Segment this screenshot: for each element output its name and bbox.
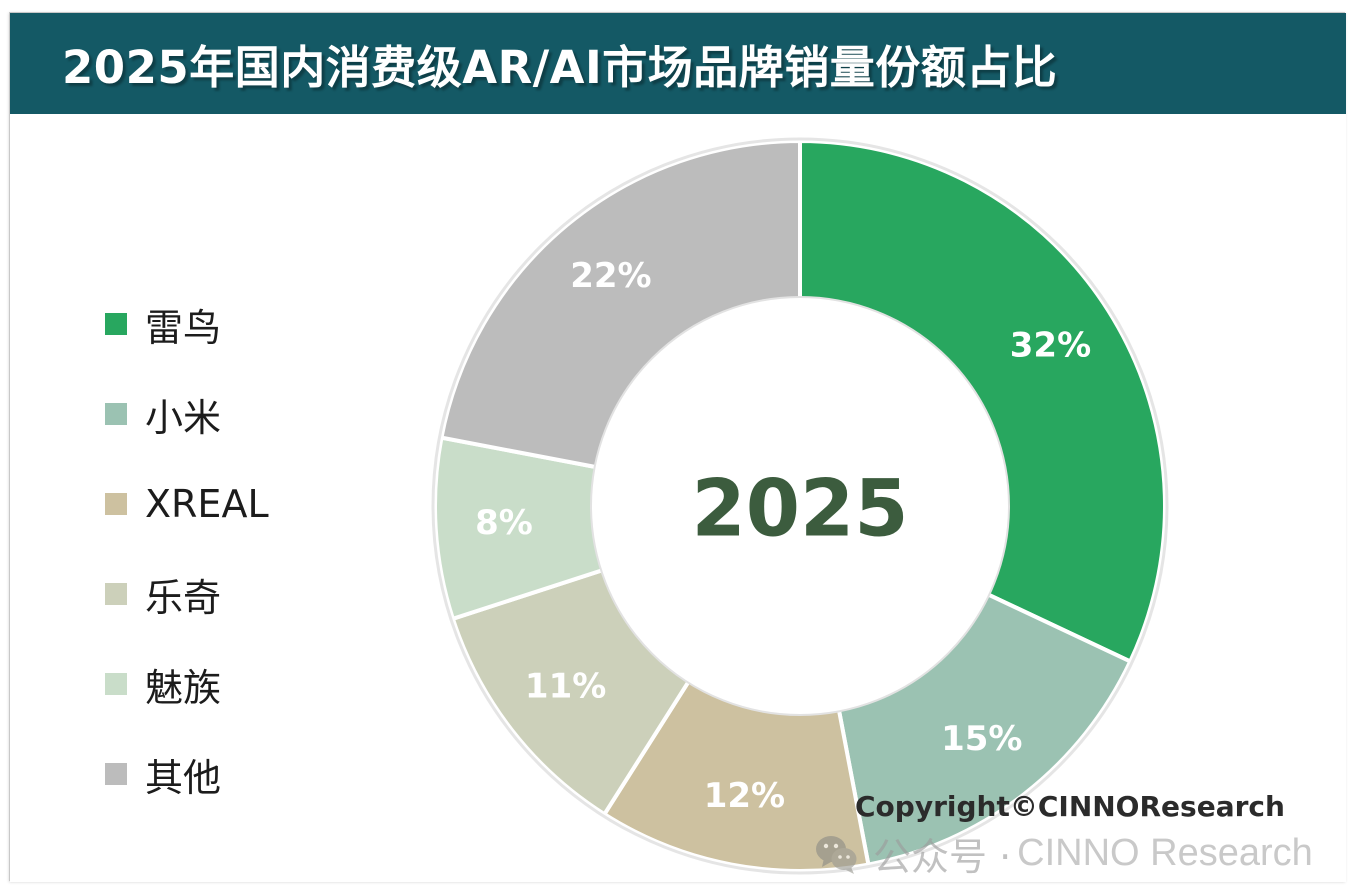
legend-item-label: 魅族 — [145, 657, 221, 712]
legend-item[interactable]: 雷鸟 — [105, 279, 405, 369]
wechat-icon — [815, 834, 859, 874]
legend-swatch-icon — [105, 403, 127, 425]
donut-chart: 2025 32%15%12%11%8%22% — [430, 136, 1170, 876]
legend-swatch-icon — [105, 763, 127, 785]
page-title: 2025年国内消费级AR/AI市场品牌销量份额占比 — [62, 31, 1057, 96]
copyright-text: Copyright©CINNOResearch — [855, 790, 1285, 823]
donut-slice-label: 11% — [525, 666, 606, 706]
donut-slice-label: 12% — [704, 776, 785, 816]
chart-legend: 雷鸟小米XREAL乐奇魅族其他 — [105, 279, 405, 819]
legend-item-label: 其他 — [145, 747, 221, 802]
donut-slice-label: 32% — [1010, 326, 1091, 366]
donut-center-label: 2025 — [691, 464, 908, 554]
legend-swatch-icon — [105, 313, 127, 335]
legend-item-label: 乐奇 — [145, 567, 221, 622]
chart-plot-area: 雷鸟小米XREAL乐奇魅族其他 2025 32%15%12%11%8%22% C… — [10, 114, 1346, 882]
legend-item[interactable]: 魅族 — [105, 639, 405, 729]
watermark-label-zh: 公众号 · — [873, 826, 1011, 881]
donut-slice-label: 22% — [570, 256, 651, 296]
legend-swatch-icon — [105, 673, 127, 695]
legend-item-label: XREAL — [145, 482, 269, 526]
donut-slice-label: 8% — [475, 503, 533, 543]
donut-slice-label: 15% — [941, 719, 1022, 759]
watermark: 公众号 · CINNO Research — [815, 826, 1313, 881]
legend-item-label: 小米 — [145, 387, 221, 442]
watermark-label-en: CINNO Research — [1017, 832, 1313, 875]
chart-card: 2025年国内消费级AR/AI市场品牌销量份额占比 雷鸟小米XREAL乐奇魅族其… — [9, 12, 1345, 881]
legend-swatch-icon — [105, 493, 127, 515]
legend-item[interactable]: 乐奇 — [105, 549, 405, 639]
title-band: 2025年国内消费级AR/AI市场品牌销量份额占比 — [10, 13, 1346, 114]
donut-chart-svg: 2025 32%15%12%11%8%22% — [430, 136, 1170, 876]
legend-item-label: 雷鸟 — [145, 297, 221, 352]
legend-item[interactable]: 小米 — [105, 369, 405, 459]
legend-swatch-icon — [105, 583, 127, 605]
legend-item[interactable]: XREAL — [105, 459, 405, 549]
legend-item[interactable]: 其他 — [105, 729, 405, 819]
